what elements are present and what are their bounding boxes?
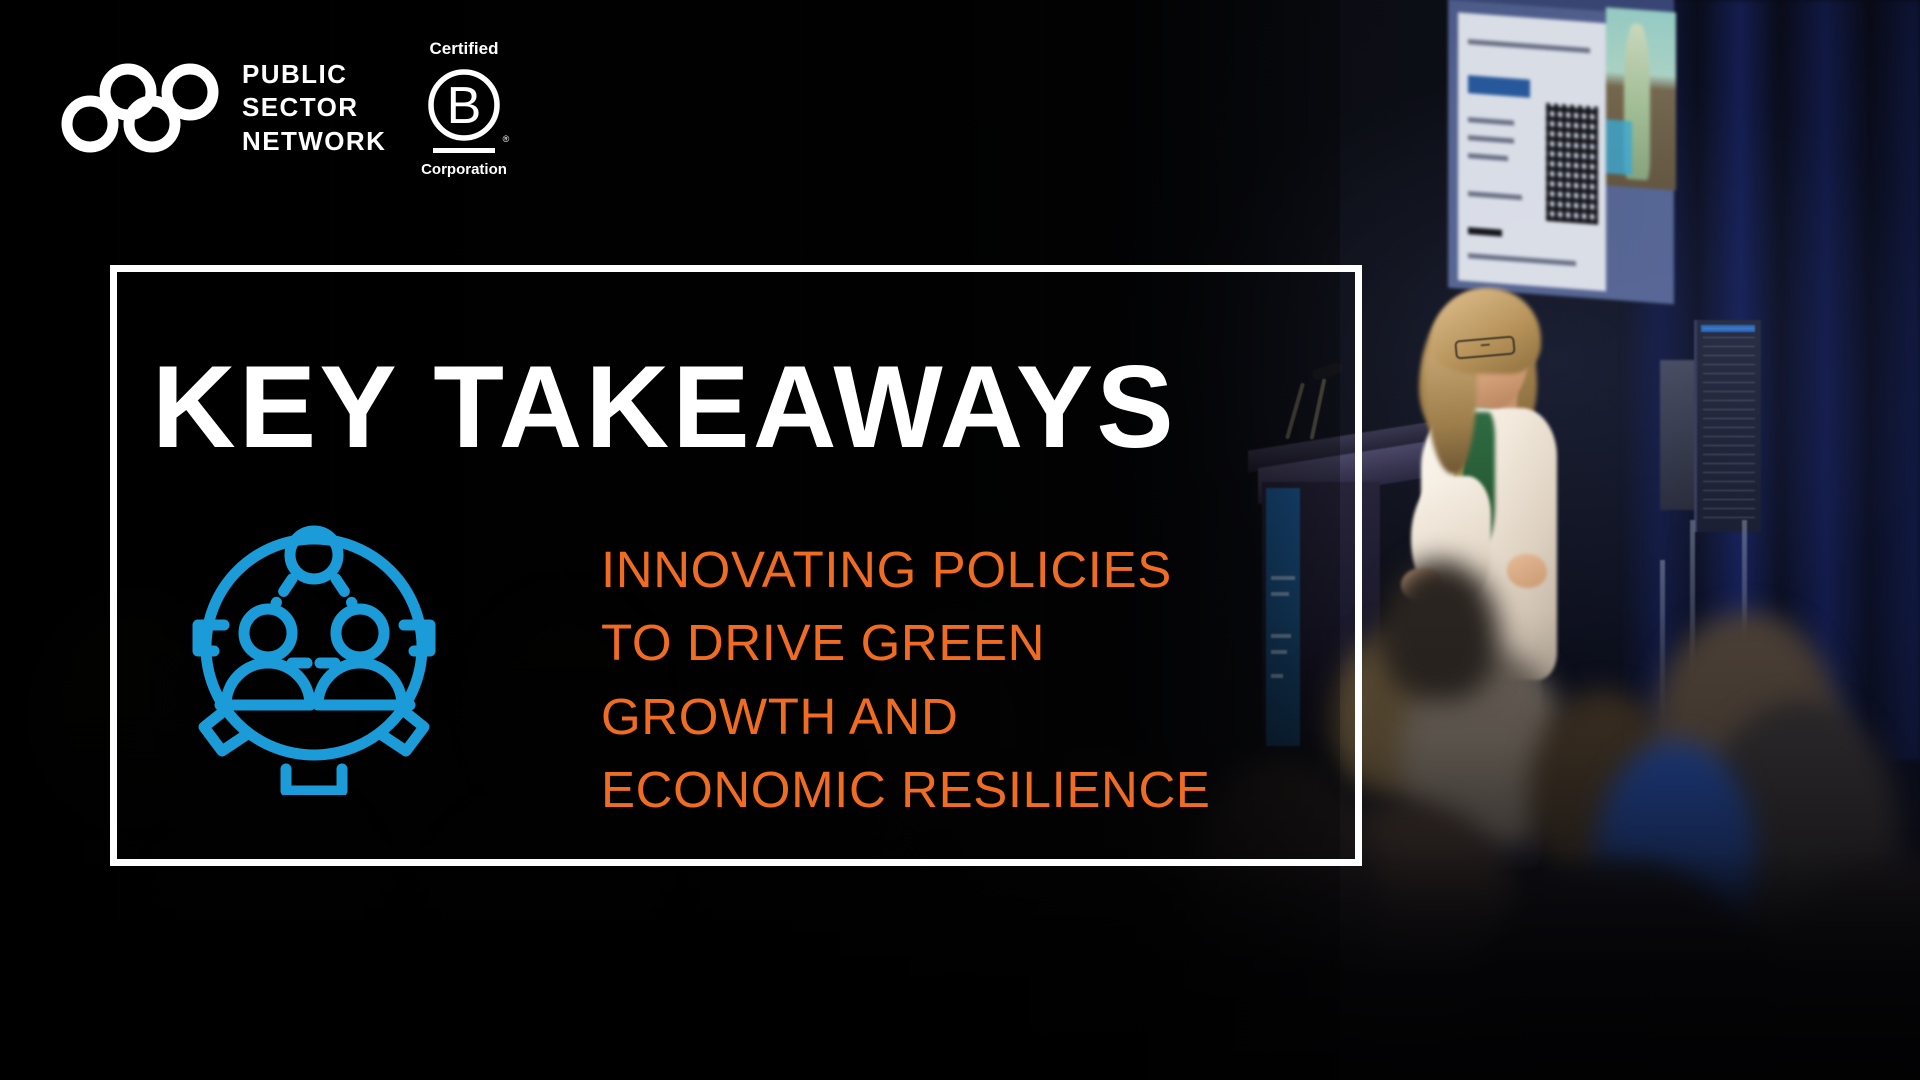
svg-text:B: B xyxy=(447,77,482,135)
page-title: KEY TAKEAWAYS xyxy=(152,348,1177,465)
b-corporation-certified-logo: Certified B ® Corporation xyxy=(416,38,512,178)
public-sector-network-logo: PUBLIC SECTOR NETWORK xyxy=(60,58,386,157)
slide-canvas: PUBLIC SECTOR NETWORK Certified B ® Corp… xyxy=(0,0,1920,1080)
subtitle-line: INNOVATING POLICIES xyxy=(601,533,1261,606)
presenter-hair-front xyxy=(1431,288,1541,374)
slide-white-card xyxy=(1458,12,1606,291)
four-interlocking-rings-icon xyxy=(60,62,220,154)
presenter-hand xyxy=(1507,554,1547,588)
subtitle-line: GROWTH AND xyxy=(601,680,1261,753)
subtitle-line: ECONOMIC RESILIENCE xyxy=(601,753,1261,826)
stage-speaker-secondary xyxy=(1660,360,1698,510)
svg-text:Corporation: Corporation xyxy=(421,161,507,178)
subtitle-block: INNOVATING POLICIES TO DRIVE GREEN GROWT… xyxy=(601,533,1261,827)
projection-screen xyxy=(1448,0,1674,304)
svg-text:®: ® xyxy=(503,134,510,144)
stage-speaker-primary xyxy=(1694,320,1761,532)
public-sector-network-wordmark: PUBLIC SECTOR NETWORK xyxy=(242,58,386,157)
slide-blue-swatch xyxy=(1606,119,1632,175)
slide-qr-code xyxy=(1546,103,1598,225)
svg-text:Certified: Certified xyxy=(430,39,499,58)
people-in-gear-icon-wrapper xyxy=(180,515,448,795)
subtitle-line: TO DRIVE GREEN xyxy=(601,606,1261,679)
people-in-gear-icon xyxy=(180,515,448,795)
logo-lockup: PUBLIC SECTOR NETWORK Certified B ® Corp… xyxy=(60,38,512,178)
